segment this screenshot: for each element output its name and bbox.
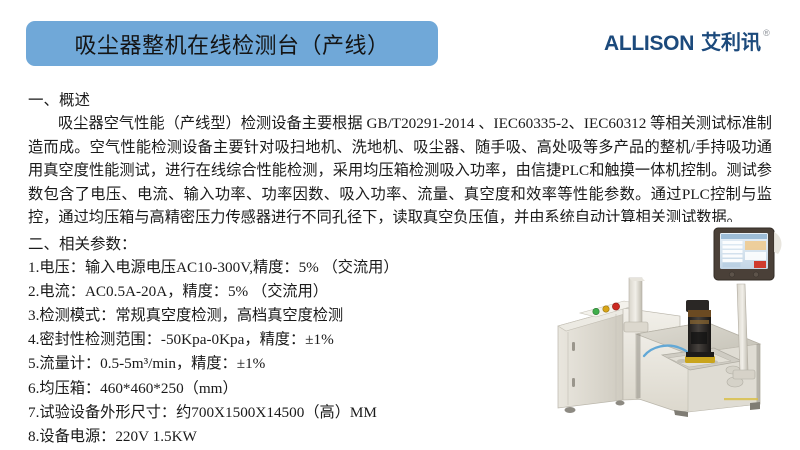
page-title: 吸尘器整机在线检测台（产线） [74, 28, 389, 60]
cabinet-handle [572, 342, 575, 351]
accent-stripe [724, 398, 758, 400]
page-title-banner: 吸尘器整机在线检测台（产线） [26, 21, 438, 66]
brand-logo: ALLISON 艾利讯 ® [604, 33, 770, 54]
yellow-collar [685, 356, 715, 363]
brand-logo-cjk: 艾利讯 [701, 33, 761, 54]
machine-foot [750, 402, 760, 410]
overview-heading: 一、概述 [28, 90, 772, 111]
red-emergency-stop-button[interactable] [612, 303, 619, 310]
machine-photo [528, 222, 800, 422]
cabinet-handle [572, 378, 575, 387]
yellow-indicator-button[interactable] [603, 306, 609, 312]
hmi-button[interactable] [729, 272, 734, 277]
slide-page: 吸尘器整机在线检测台（产线） ALLISON 艾利讯 ® 一、概述 吸尘器空气性… [0, 0, 800, 450]
overview-paragraph: 吸尘器空气性能（产线型）检测设备主要根据 GB/T20291-2014 、IEC… [28, 112, 772, 230]
caster-wheel [616, 401, 625, 406]
hmi-button[interactable] [753, 272, 758, 277]
registered-trademark-icon: ® [763, 28, 770, 38]
brand-logo-latin: ALLISON [604, 33, 694, 54]
list-item: 8.设备电源：220V 1.5KW [28, 425, 772, 449]
hmi-alarm-indicator [754, 261, 766, 268]
green-indicator-button[interactable] [593, 308, 599, 314]
hmi-stand-base [733, 370, 755, 379]
hmi-screen-titlebar [721, 234, 767, 239]
caster-wheel [565, 407, 576, 413]
